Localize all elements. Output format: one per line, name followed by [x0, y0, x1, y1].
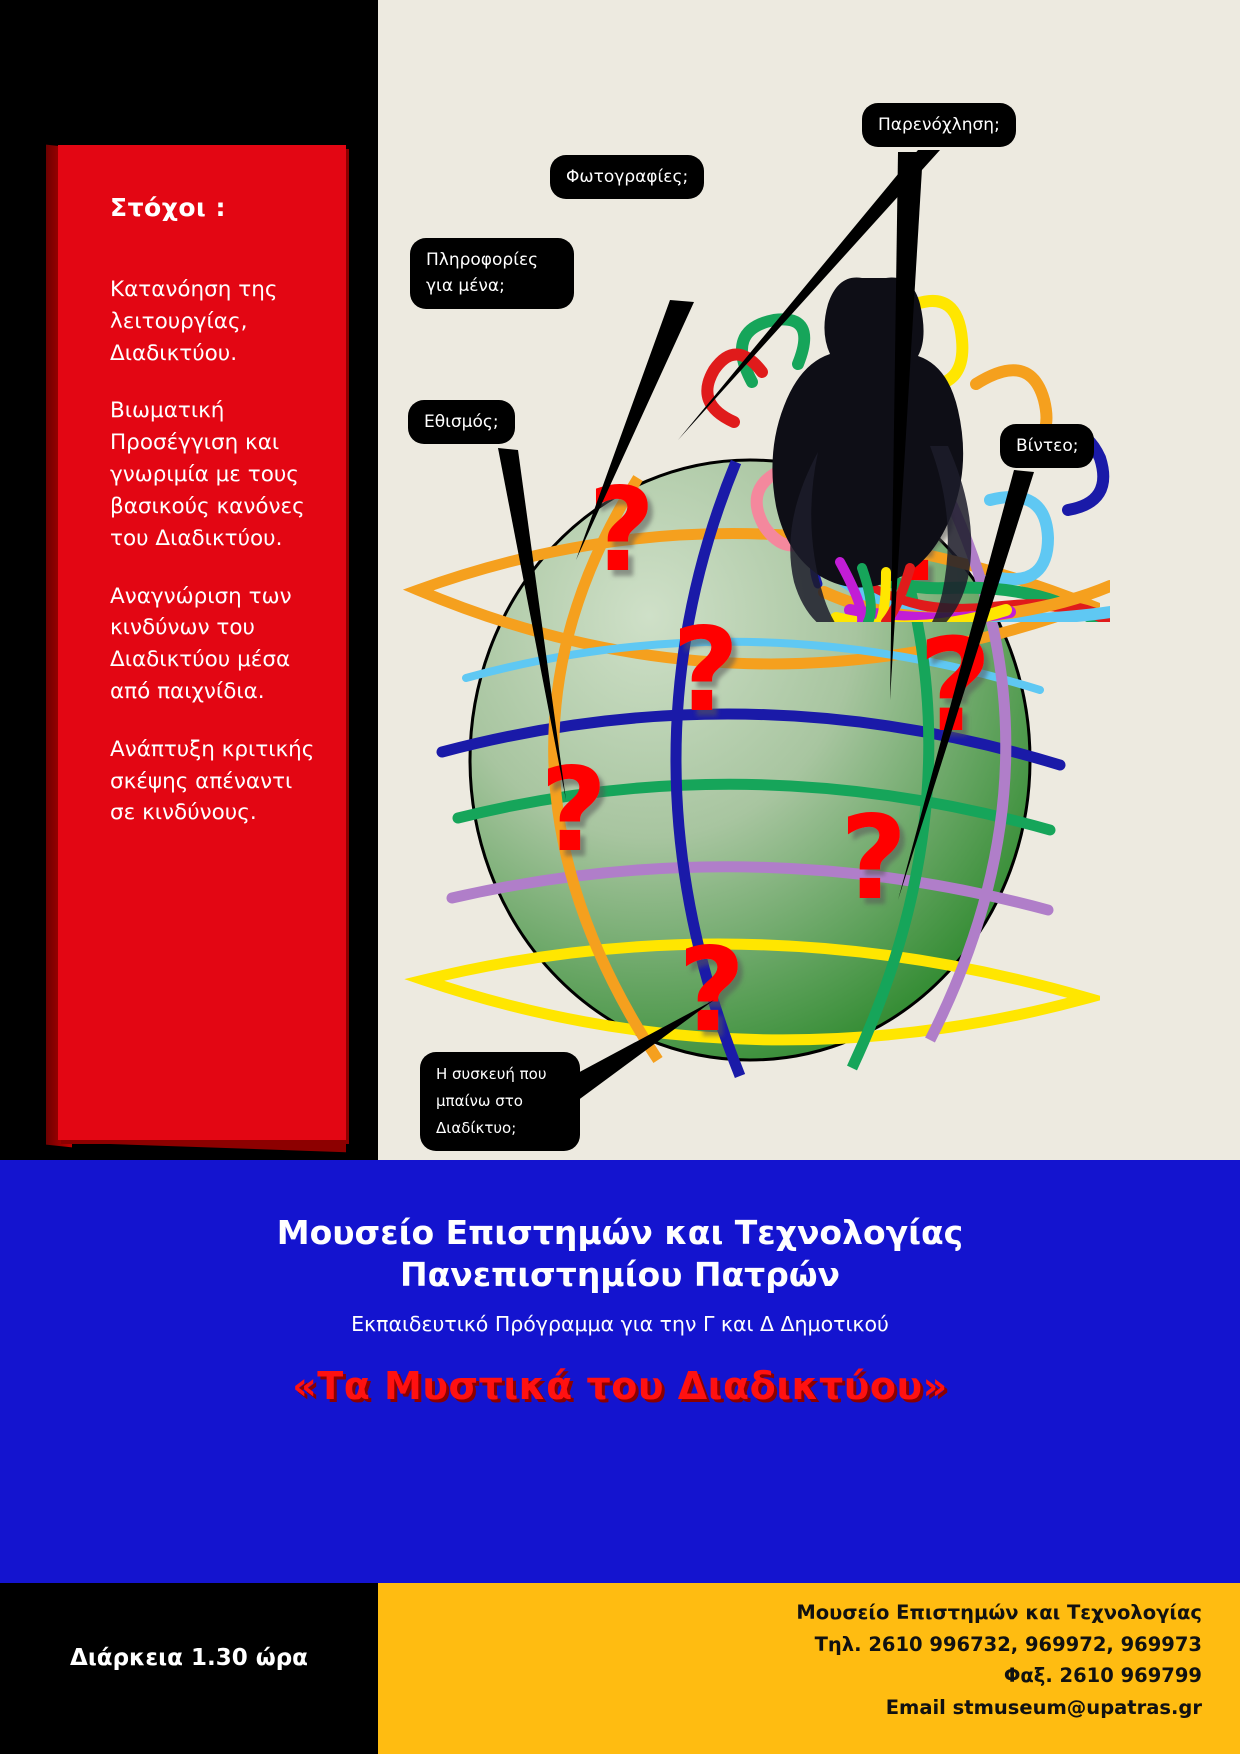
poster-root: ? ? ? ? ? ? ? — [0, 0, 1240, 1754]
contact-box: Μουσείο Επιστημών και Τεχνολογίας Τηλ. 2… — [378, 1583, 1240, 1754]
contact-details: Μουσείο Επιστημών και Τεχνολογίας Τηλ. 2… — [796, 1597, 1202, 1723]
tail-ethismos — [498, 448, 566, 800]
bubble-vinteo[interactable]: Βίντεο; — [1000, 424, 1094, 468]
objective-item-2: Βιωματική Προσέγγιση και γνωριμία με του… — [110, 395, 320, 554]
objectives-title: Στόχοι : — [110, 193, 320, 222]
organization-line-2: Πανεπιστημίου Πατρών — [400, 1255, 840, 1294]
bubble-plirofories[interactable]: Πληροφορίες για μένα; — [410, 238, 574, 309]
blue-footer-band: Μουσείο Επιστημών και Τεχνολογίας Πανεπι… — [0, 1160, 1240, 1583]
tail-vinteo — [898, 470, 1034, 900]
tail-plirofories — [576, 300, 694, 560]
program-title: «Τα Μυστικά του Διαδικτύου» — [0, 1364, 1240, 1408]
bubble-ethismos[interactable]: Εθισμός; — [408, 400, 515, 444]
contact-line-2: Τηλ. 2610 996732, 969972, 969973 — [796, 1629, 1202, 1661]
duration-label: Διάρκεια 1.30 ώρα — [0, 1583, 378, 1754]
contact-line-3: Φαξ. 2610 969799 — [796, 1660, 1202, 1692]
organization-title: Μουσείο Επιστημών και Τεχνολογίας Πανεπι… — [0, 1160, 1240, 1296]
objective-item-4: Ανάπτυξη κριτικής σκέψης απέναντι σε κιν… — [110, 734, 320, 829]
objective-item-3: Αναγνώριση των κινδύνων του Διαδικτύου μ… — [110, 581, 320, 708]
organization-line-1: Μουσείο Επιστημών και Τεχνολογίας — [277, 1213, 963, 1252]
objectives-panel: Στόχοι : Κατανόηση της λειτουργίας, Διαδ… — [58, 145, 346, 1140]
contact-line-4[interactable]: Email stmuseum@upatras.gr — [796, 1692, 1202, 1724]
program-subtitle: Εκπαιδευτικό Πρόγραμμα για την Γ και Δ Δ… — [0, 1312, 1240, 1336]
contact-line-1: Μουσείο Επιστημών και Τεχνολογίας — [796, 1597, 1202, 1629]
bubble-fotografies[interactable]: Φωτογραφίες; — [550, 155, 704, 199]
bubble-parenochlisi[interactable]: Παρενόχληση; — [862, 103, 1016, 147]
bubble-siskevi[interactable]: Η συσκευή που μπαίνω στο Διαδίκτυο; — [420, 1052, 580, 1151]
objective-item-1: Κατανόηση της λειτουργίας, Διαδικτύου. — [110, 274, 320, 369]
tail-parenochlisi — [890, 152, 923, 700]
bubble-tails — [378, 0, 1240, 1160]
